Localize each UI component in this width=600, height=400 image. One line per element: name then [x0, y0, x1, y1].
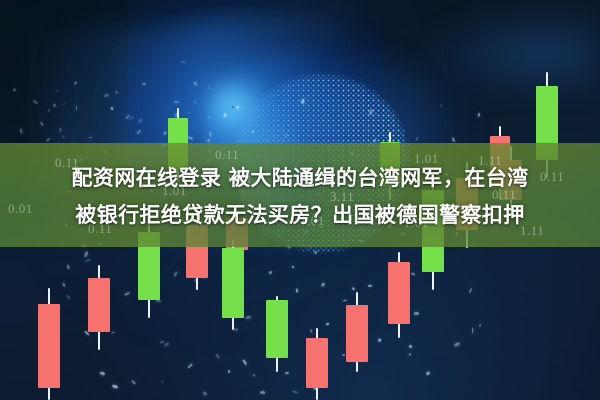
headline-line-1: 配资网在线登录 被大陆通缉的台湾网军，在台湾	[0, 160, 600, 197]
headline-text: 配资网在线登录 被大陆通缉的台湾网军，在台湾 被银行拒绝贷款无法买房？出国被德国…	[0, 160, 600, 234]
banner-image: 0.110.011.010.110.213.111.011.011.110.11…	[0, 0, 600, 400]
candlestick-body	[266, 300, 288, 358]
candlestick-body	[222, 248, 244, 318]
candlestick-body	[38, 304, 60, 388]
candlestick-body	[346, 305, 368, 362]
candlestick-body	[88, 278, 110, 332]
candlestick-body	[306, 338, 328, 388]
headline-line-2: 被银行拒绝贷款无法买房？出国被德国警察扣押	[0, 197, 600, 234]
